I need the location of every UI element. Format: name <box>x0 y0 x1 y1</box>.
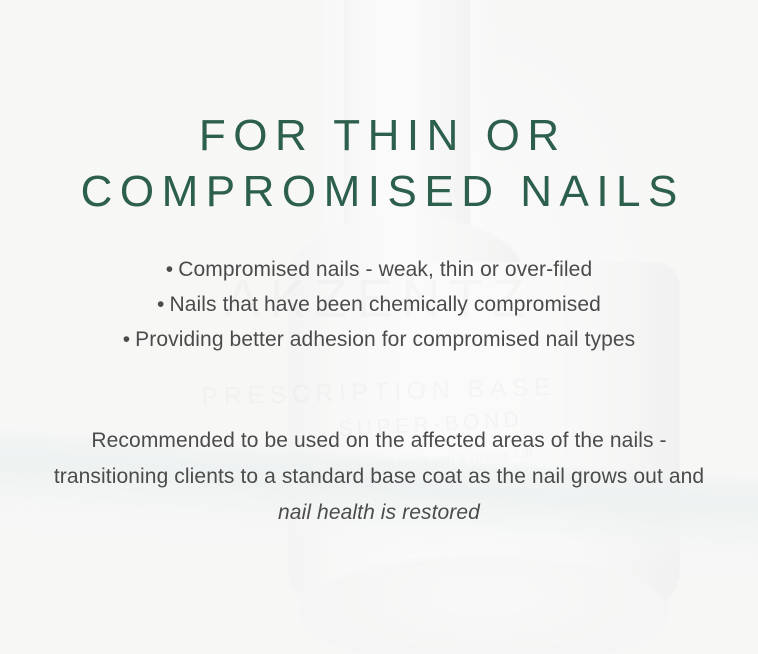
usage-recommendation-paragraph: Recommended to be used on the affected a… <box>49 423 709 531</box>
list-item-label: Compromised nails - weak, thin or over-f… <box>178 258 592 281</box>
list-item-label: Nails that have been chemically compromi… <box>169 293 601 316</box>
bullet-dot-icon: • <box>123 328 130 351</box>
list-item: •Compromised nails - weak, thin or over-… <box>0 252 758 287</box>
usage-recommendation-emphasis: nail health is restored <box>278 501 480 524</box>
page-title: FOR THIN OR COMPROMISED NAILS <box>0 108 758 220</box>
list-item-label: Providing better adhesion for compromise… <box>135 328 635 351</box>
bullet-dot-icon: • <box>157 293 164 316</box>
slide-canvas: AKZENTZ PRESCRIPTION BASE SUPER-BOND Bas… <box>0 0 758 654</box>
bullet-dot-icon: • <box>166 258 173 281</box>
page-title-line-2: COMPROMISED NAILS <box>0 164 758 220</box>
page-title-line-1: FOR THIN OR <box>0 108 758 164</box>
usage-recommendation-text: Recommended to be used on the affected a… <box>54 429 704 488</box>
benefits-list: •Compromised nails - weak, thin or over-… <box>0 252 758 357</box>
slide-content: FOR THIN OR COMPROMISED NAILS •Compromis… <box>0 0 758 654</box>
list-item: •Providing better adhesion for compromis… <box>0 322 758 357</box>
list-item: •Nails that have been chemically comprom… <box>0 287 758 322</box>
